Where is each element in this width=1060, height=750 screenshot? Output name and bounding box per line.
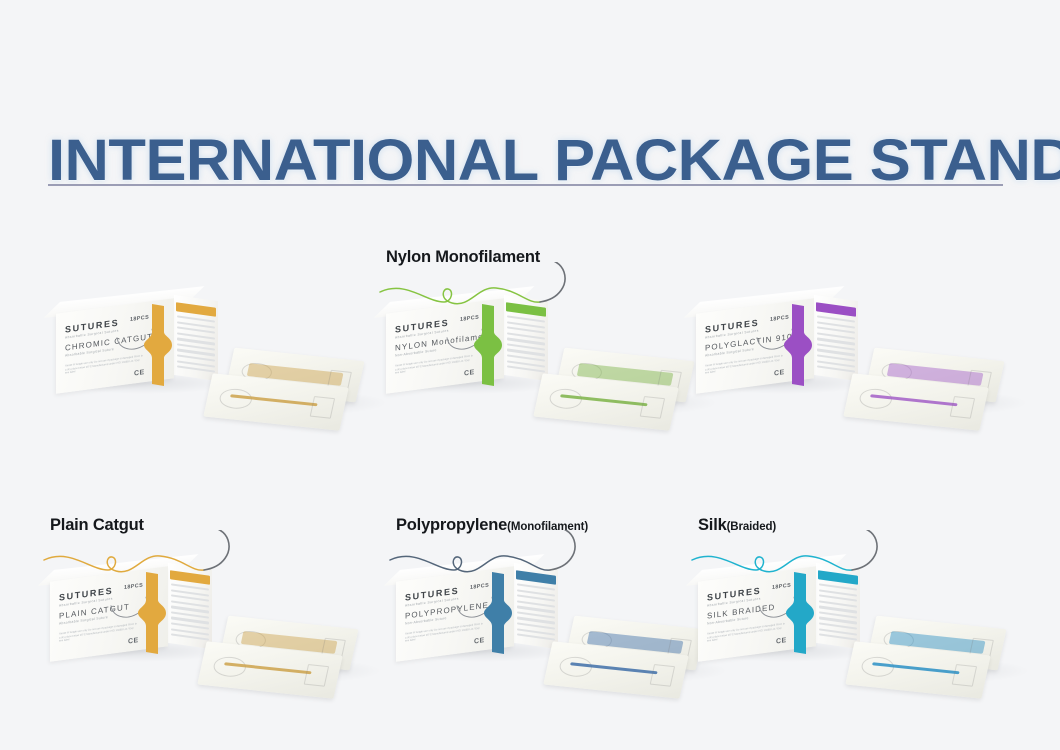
- sachet-barcode-mark: [310, 396, 335, 418]
- product-label-main: Silk: [698, 516, 727, 534]
- box-regulatory-text: Sterile R Single use only Do not use if …: [707, 622, 785, 643]
- product-label-sub: (Monofilament): [507, 521, 588, 533]
- suture-box-polyglactin-910: SUTURES Absorbable Surgical Sutures POLY…: [696, 300, 848, 384]
- product-cell-polyglactin-910: SUTURES Absorbable Surgical Sutures POLY…: [688, 248, 1018, 478]
- sachet-barcode-mark: [650, 664, 675, 686]
- product-label-silk-braided: Silk(Braided): [698, 516, 776, 535]
- box-regulatory-text: Sterile R Single use only Do not use if …: [65, 354, 143, 375]
- product-scene-silk-braided: SUTURES Absorbable Surgical Sutures SILK…: [690, 562, 1020, 742]
- suture-box-chromic-catgut: SUTURES Absorbable Surgical Sutures CHRO…: [56, 300, 208, 384]
- product-cell-silk-braided: Silk(Braided) SUTURES Absorbable Surgica…: [690, 516, 1020, 746]
- poster-canvas: INTERNATIONAL PACKAGE STANDARD SUTURES A…: [0, 0, 1060, 750]
- product-scene-nylon-monofilament: SUTURES Absorbable Surgical Sutures NYLO…: [378, 294, 708, 474]
- box-regulatory-text: Sterile R Single use only Do not use if …: [395, 354, 473, 375]
- box-accent-stripe: [142, 302, 176, 388]
- box-accent-stripe: [782, 302, 816, 388]
- box-accent-stripe: [472, 302, 506, 388]
- product-label-main: Nylon Monofilament: [386, 248, 540, 266]
- product-label-main: Polypropylene: [396, 516, 507, 534]
- page-title: INTERNATIONAL PACKAGE STANDARD: [48, 131, 1060, 191]
- sachet-barcode-mark: [950, 396, 975, 418]
- product-scene-polypropylene: SUTURES Absorbable Surgical Sutures POLY…: [388, 562, 718, 742]
- product-label-sub: (Braided): [727, 521, 777, 533]
- box-side-spec-grid: [817, 315, 855, 370]
- box-side-face: [174, 295, 218, 381]
- product-cell-polypropylene: Polypropylene(Monofilament) SUTURES Abso…: [388, 516, 718, 746]
- box-accent-stripe: [136, 570, 170, 656]
- sachet-barcode-mark: [304, 664, 329, 686]
- box-side-spec-grid: [819, 583, 857, 638]
- box-side-spec-grid: [177, 315, 215, 370]
- product-scene-polyglactin-910: SUTURES Absorbable Surgical Sutures POLY…: [688, 294, 1018, 474]
- box-side-face: [814, 295, 858, 381]
- product-cell-nylon-monofilament: Nylon Monofilament SUTURES Absorbable Su…: [378, 248, 708, 478]
- sachet-barcode-mark: [640, 396, 665, 418]
- box-regulatory-text: Sterile R Single use only Do not use if …: [705, 354, 783, 375]
- product-cell-chromic-catgut: SUTURES Absorbable Surgical Sutures CHRO…: [48, 248, 378, 478]
- product-label-main: Plain Catgut: [50, 516, 144, 534]
- box-side-spec-grid: [171, 583, 209, 638]
- box-side-spec-grid: [507, 315, 545, 370]
- title-divider: [48, 184, 1003, 186]
- product-scene-chromic-catgut: SUTURES Absorbable Surgical Sutures CHRO…: [48, 294, 378, 474]
- product-label-nylon-monofilament: Nylon Monofilament: [386, 248, 540, 267]
- box-regulatory-text: Sterile R Single use only Do not use if …: [59, 622, 137, 643]
- sachet-barcode-mark: [952, 664, 977, 686]
- box-regulatory-text: Sterile R Single use only Do not use if …: [405, 622, 483, 643]
- box-accent-stripe: [482, 570, 516, 656]
- box-accent-stripe: [784, 570, 818, 656]
- box-side-band: [176, 302, 216, 317]
- product-scene-plain-catgut: SUTURES Absorbable Surgical Sutures PLAI…: [42, 562, 372, 742]
- box-side-band: [816, 302, 856, 317]
- product-label-plain-catgut: Plain Catgut: [50, 516, 144, 535]
- product-label-polypropylene: Polypropylene(Monofilament): [396, 516, 588, 535]
- box-side-spec-grid: [517, 583, 555, 638]
- product-cell-plain-catgut: Plain Catgut SUTURES Absorbable Surgical…: [42, 516, 372, 746]
